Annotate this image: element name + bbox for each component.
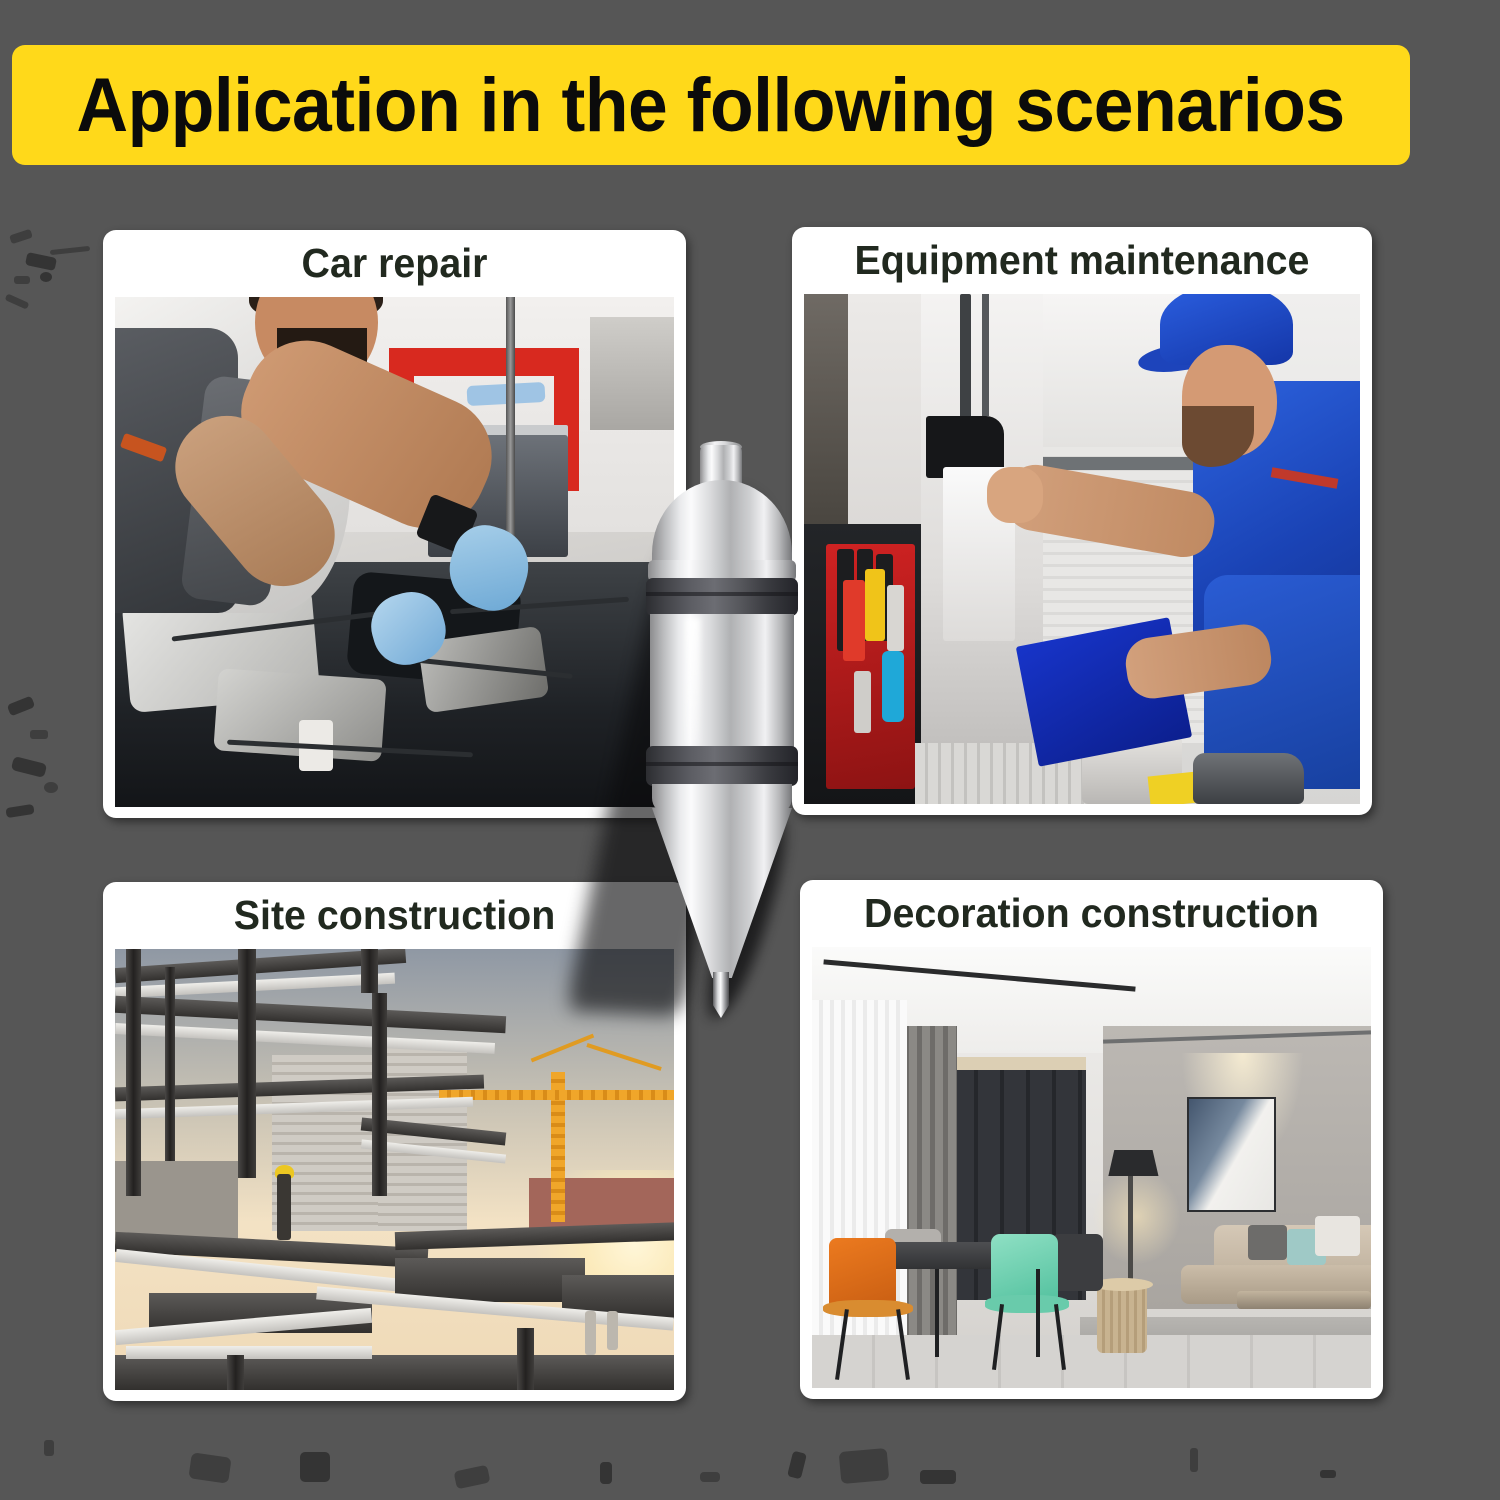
plumb-bob-upper-band-groove — [646, 592, 798, 596]
photo-car-repair — [115, 297, 674, 807]
plumb-bob-upper-band — [646, 578, 798, 616]
headline-text: Application in the following scenarios — [77, 62, 1345, 149]
scenario-card-equipment-maintenance[interactable]: Equipment maintenance — [792, 227, 1372, 815]
card-title-equipment-maintenance: Equipment maintenance — [804, 227, 1361, 293]
grunge-speck — [11, 756, 47, 778]
photo-decoration-construction — [812, 947, 1371, 1388]
grunge-speck — [839, 1448, 890, 1484]
grunge-speck — [9, 229, 33, 244]
plumb-bob-product — [630, 438, 850, 1018]
poster-canvas: Application in the following scenarios C… — [0, 0, 1500, 1500]
grunge-speck — [188, 1452, 231, 1483]
scenario-card-car-repair[interactable]: Car repair — [103, 230, 686, 818]
grunge-speck — [787, 1451, 807, 1480]
grunge-speck — [600, 1462, 612, 1484]
card-title-decoration-construction: Decoration construction — [812, 880, 1372, 946]
grunge-speck — [1190, 1448, 1198, 1472]
headline-banner: Application in the following scenarios — [12, 45, 1410, 165]
grunge-speck — [300, 1452, 330, 1482]
grunge-speck — [700, 1472, 720, 1482]
grunge-speck — [44, 1440, 54, 1456]
grunge-speck — [1320, 1470, 1336, 1478]
plumb-bob-highlight — [686, 618, 700, 744]
grunge-speck — [5, 804, 34, 818]
photo-equipment-maintenance — [804, 294, 1360, 804]
grunge-speck — [25, 252, 57, 271]
scenario-card-decoration-construction[interactable]: Decoration construction — [800, 880, 1383, 1399]
grunge-speck — [50, 246, 90, 255]
grunge-speck — [30, 730, 48, 739]
plumb-bob-lower-band — [646, 746, 798, 786]
grunge-speck — [14, 276, 30, 284]
plumb-bob-lower-band-groove — [646, 762, 798, 766]
grunge-speck — [40, 272, 52, 282]
photo-site-construction — [115, 949, 674, 1390]
grunge-speck — [5, 293, 30, 309]
grunge-speck — [920, 1470, 956, 1484]
plumb-bob-barrel — [650, 614, 794, 748]
grunge-speck — [454, 1465, 491, 1490]
card-title-car-repair: Car repair — [115, 230, 675, 296]
grunge-speck — [7, 696, 36, 717]
grunge-speck — [44, 782, 58, 793]
